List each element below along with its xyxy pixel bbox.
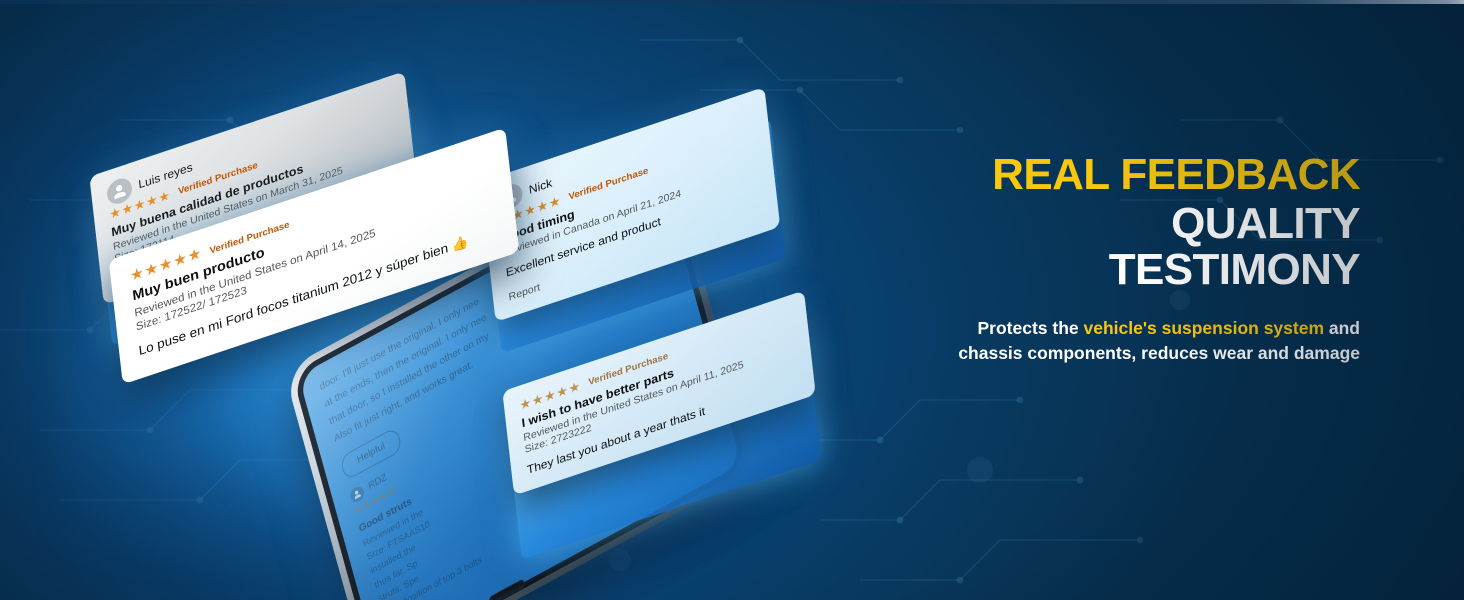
subcopy-part-1: Protects the	[977, 318, 1083, 338]
subcopy-text: Protects the vehicle's suspension system…	[940, 316, 1360, 367]
promo-banner: door. I'll just use the original, I only…	[0, 0, 1464, 600]
subcopy-highlight: vehicle's suspension system	[1083, 318, 1324, 338]
headline-secondary: QUALITY TESTIMONY	[940, 201, 1360, 294]
reviewer-name: Nick	[528, 176, 553, 197]
marketing-copy: REAL FEEDBACK QUALITY TESTIMONY Protects…	[940, 152, 1360, 367]
headline-primary: REAL FEEDBACK	[940, 152, 1360, 199]
top-edge-strip	[0, 0, 1464, 4]
